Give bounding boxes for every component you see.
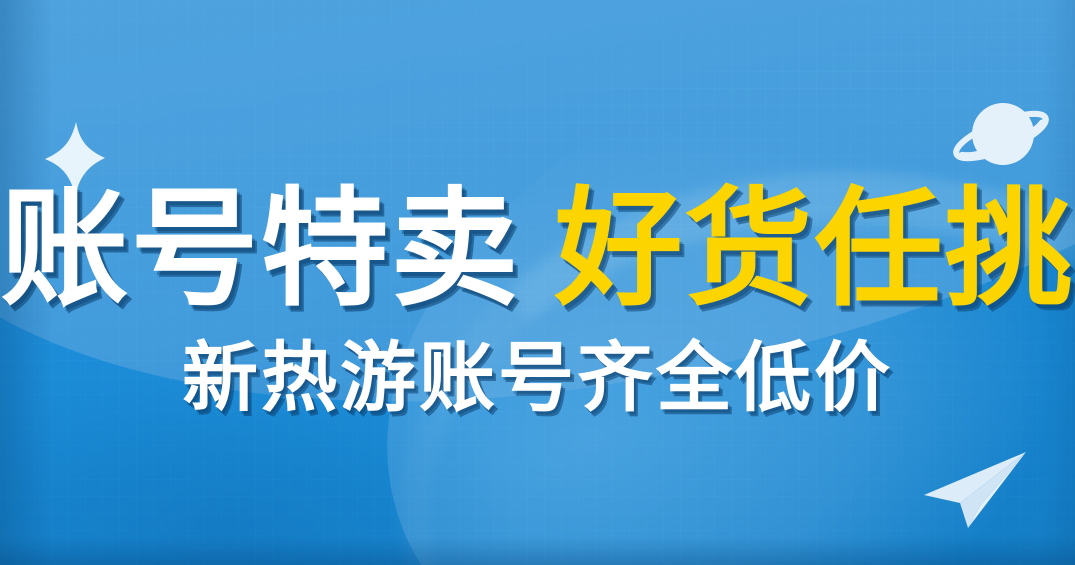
banner-content: 账号特卖 好货任挑 新热游账号齐全低价 <box>0 0 1075 565</box>
promo-banner: 账号特卖 好货任挑 新热游账号齐全低价 <box>0 0 1075 565</box>
subheadline: 新热游账号齐全低价 <box>182 340 893 416</box>
headline: 账号特卖 好货任挑 <box>0 186 1074 314</box>
headline-accent-text: 好货任挑 <box>555 186 1075 314</box>
headline-primary-text: 账号特卖 <box>0 186 520 314</box>
